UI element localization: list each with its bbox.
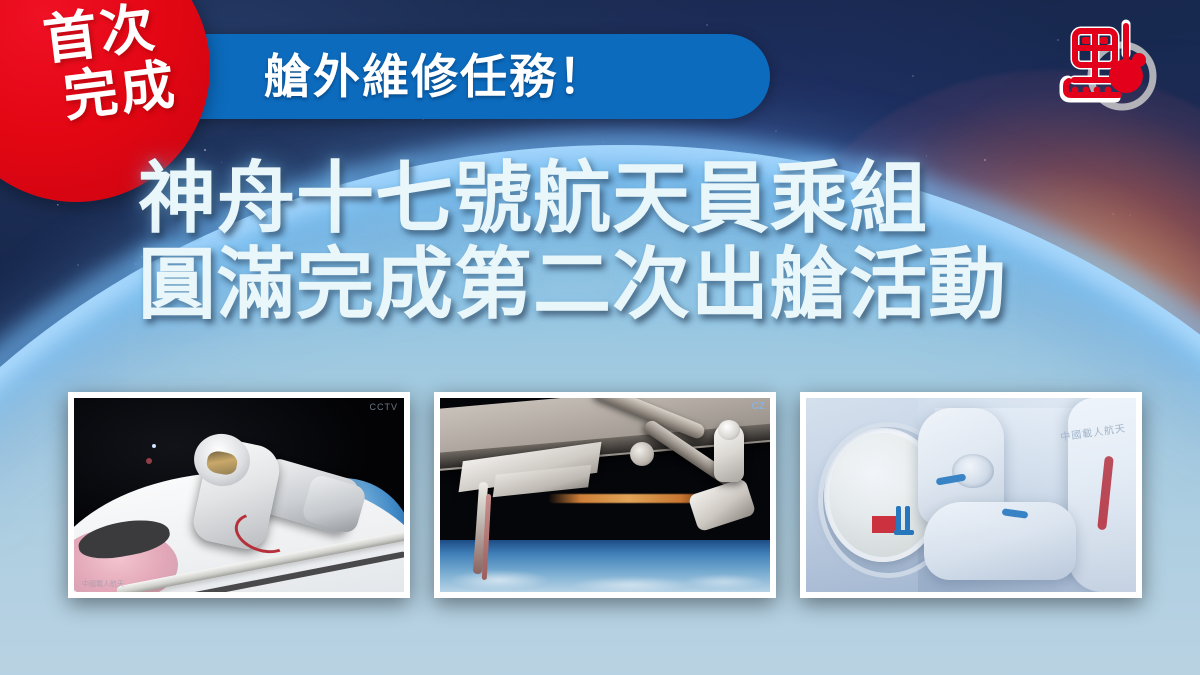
photo-robotic-arm-truss[interactable]: CZ [434,392,776,598]
dot-news-logo-icon [1054,14,1164,112]
photo-eva-astronaut-on-module[interactable]: CCTV 中國載人航天 [68,392,410,598]
photo-2-astronaut-helmet [718,420,740,440]
photo-2-arm-joint [630,442,654,466]
subtitle-banner: 艙外維修任務！ [186,34,770,119]
photo-1-image: CCTV 中國載人航天 [74,398,404,592]
dotdotnews-logo[interactable] [1054,14,1164,112]
photo-2-watermark: CZ [752,401,765,412]
photo-3-color-grade [806,398,1136,592]
photo-2-earth-clouds [440,552,770,592]
headline: 神舟十七號航天員乘組 圓滿完成第二次出艙活動 [138,158,1058,325]
subtitle-banner-text: 艙外維修任務！ [264,53,607,100]
photo-1-red-dot [146,458,152,464]
photo-airlock-hatch[interactable]: 中國載人航天 [800,392,1142,598]
photo-1-star-dot [152,444,156,448]
photo-2-image: CZ [440,398,770,592]
first-completion-badge-text: 首次 完成 [0,0,208,131]
photo-1-corner-mark: 中國載人航天 [82,579,124,589]
news-graphic-canvas: 艙外維修任務！ 首次 完成 神舟十七號航天員乘組 圓滿完成第二次出艙活動 [0,0,1200,675]
photo-1-watermark: CCTV [370,402,399,412]
headline-line-1: 神舟十七號航天員乘組 [138,158,1058,238]
headline-line-2: 圓滿完成第二次出艙活動 [138,244,1058,324]
photo-3-image: 中國載人航天 [806,398,1136,592]
